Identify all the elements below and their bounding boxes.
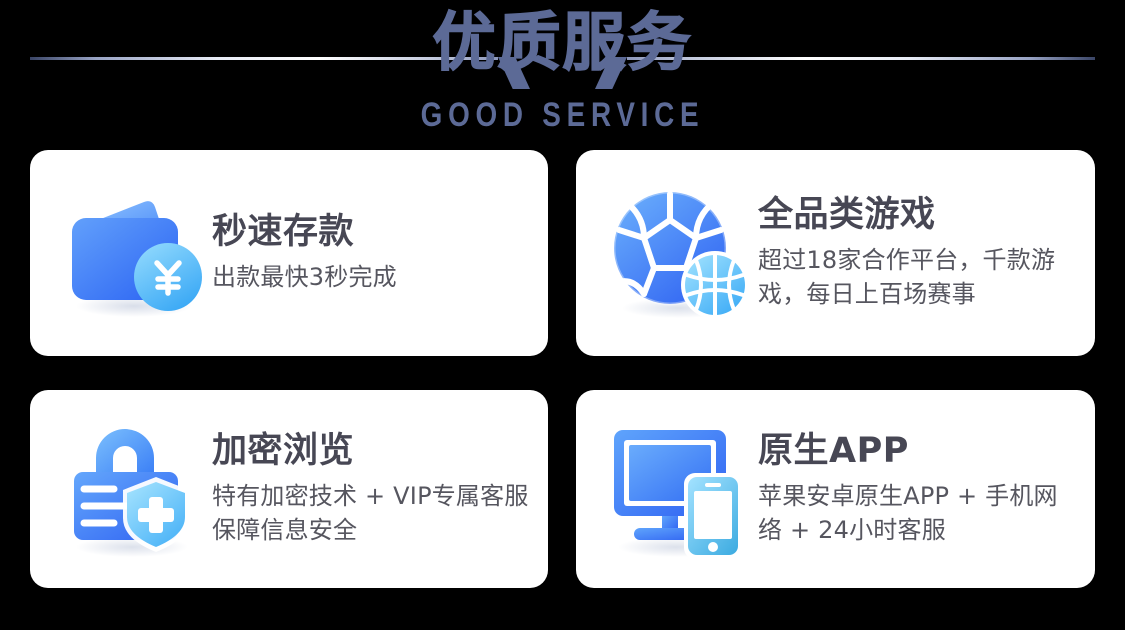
soccer-basketball-icon [604,178,754,328]
feature-card-app-text: 原生APP 苹果安卓原生APP + 手机网络 + 24小时客服 [754,431,1095,546]
lock-shield-icon [58,414,208,564]
feature-card-deposit-text: 秒速存款 出款最快3秒完成 [208,212,548,293]
feature-card-title: 原生APP [758,431,1077,472]
feature-card-deposit[interactable]: 秒速存款 出款最快3秒完成 [30,150,548,356]
monitor-phone-icon [604,414,754,564]
feature-card-desc: 苹果安卓原生APP + 手机网络 + 24小时客服 [758,479,1077,547]
feature-card-desc: 特有加密技术 + VIP专属客服保障信息安全 [212,479,530,547]
wallet-coin-icon [58,178,208,328]
feature-card-desc: 出款最快3秒完成 [212,260,530,294]
feature-card-games[interactable]: 全品类游戏 超过18家合作平台，千款游戏，每日上百场赛事 [576,150,1095,356]
feature-card-encryption[interactable]: 加密浏览 特有加密技术 + VIP专属客服保障信息安全 [30,390,548,588]
page-subtitle: GOOD SERVICE [101,96,1024,135]
banner-header: 优质服务 GOOD SERVICE [0,0,1125,146]
page-title: 优质服务 [0,5,1125,81]
feature-card-title: 秒速存款 [212,212,530,253]
feature-card-app[interactable]: 原生APP 苹果安卓原生APP + 手机网络 + 24小时客服 [576,390,1095,588]
feature-card-title: 全品类游戏 [758,195,1077,236]
feature-card-encryption-text: 加密浏览 特有加密技术 + VIP专属客服保障信息安全 [208,431,548,546]
promo-banner: 优质服务 GOOD SERVICE [0,0,1125,630]
feature-card-games-text: 全品类游戏 超过18家合作平台，千款游戏，每日上百场赛事 [754,195,1095,310]
feature-card-title: 加密浏览 [212,431,530,472]
feature-card-desc: 超过18家合作平台，千款游戏，每日上百场赛事 [758,243,1077,311]
